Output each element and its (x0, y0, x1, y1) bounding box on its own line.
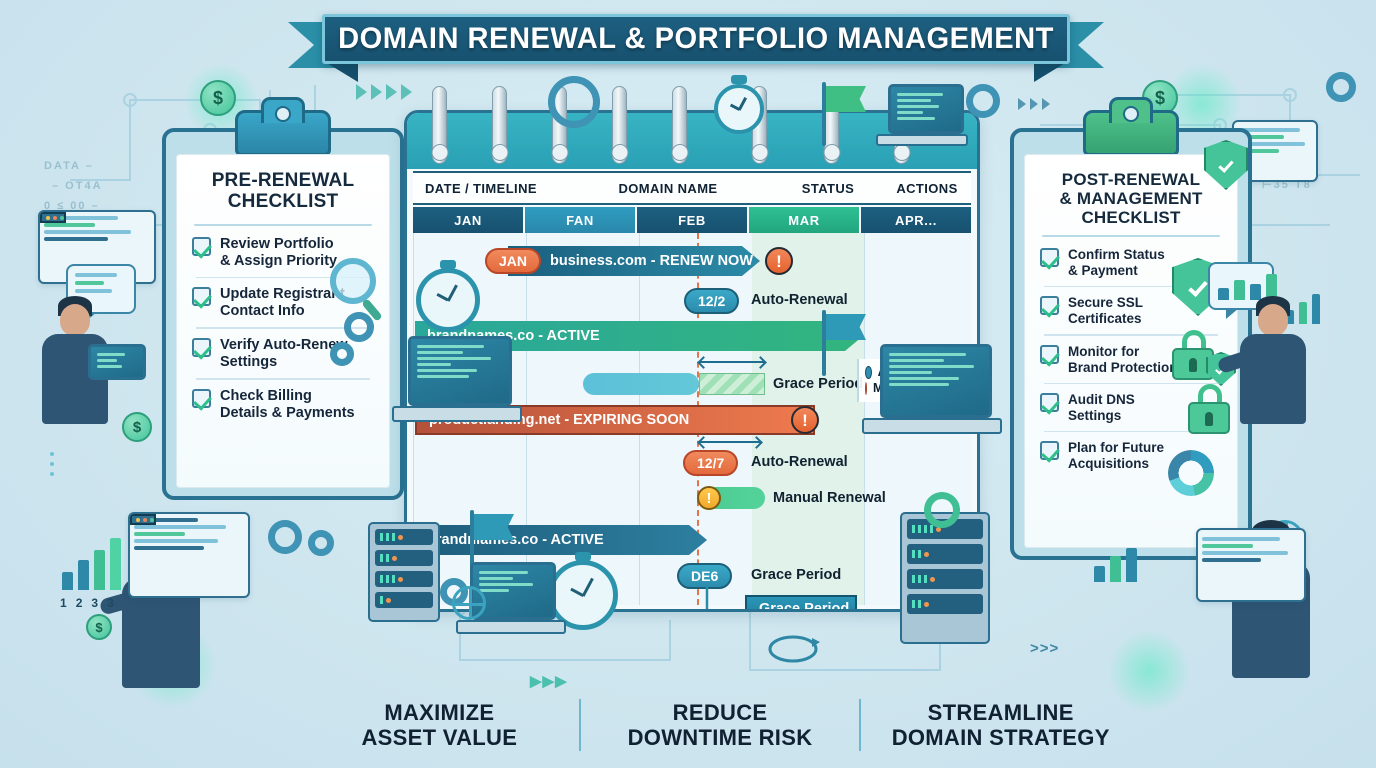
speech-lines-left (68, 266, 134, 300)
chart-label-4: 3 (107, 596, 114, 610)
left-panel-title-line-2: CHECKLIST (190, 191, 376, 212)
tagline-line-1: STREAMLINE (861, 700, 1140, 725)
server-unit (375, 592, 433, 608)
chevron-glyph-right: >>> (1030, 640, 1059, 657)
checklist-label-update-registrant: Update Registrant Contact Info (220, 286, 345, 320)
column-header-date: DATE / TIMELINE (413, 181, 563, 196)
chart-label-2: 2 (76, 596, 83, 610)
stopwatch-icon-left (416, 268, 480, 332)
timeline-badge-12-2[interactable]: 12/2 (684, 288, 739, 314)
laptop-screen (880, 344, 992, 418)
shield-check-mark (1218, 157, 1233, 173)
checkbox-secure-ssl[interactable] (1040, 296, 1059, 315)
month-cell-fan[interactable]: FAN (525, 207, 635, 233)
checklist-label-verify-auto-renew: Verify Auto-Renew Settings (220, 337, 348, 371)
clipboard-clip-hole-right (1123, 106, 1139, 122)
laptop-icon-right-large (862, 344, 1002, 454)
laptop-icon-top (876, 84, 968, 156)
server-icon-right (900, 512, 990, 644)
timeline-bar-business-com[interactable]: business.com - RENEW NOW (508, 246, 760, 276)
gear-icon-server-right (924, 492, 960, 528)
clipboard-clip-hole-left (275, 106, 291, 122)
server-unit (907, 569, 983, 589)
gear-icon-left-a (344, 312, 374, 342)
chevron-glyph-left: ▶▶▶ (530, 672, 568, 690)
dashboard-screen-right (1196, 528, 1306, 602)
laptop-base (862, 418, 1002, 434)
grace-bar-solid (583, 373, 699, 395)
left-panel-title: PRE-RENEWAL CHECKLIST (190, 170, 376, 213)
month-cell-jan[interactable]: JAN (413, 207, 523, 233)
spiral-ring (432, 86, 447, 164)
flag-cloth (826, 314, 866, 340)
timeline-status-auto-renewal-2: Auto-Renewal (751, 454, 848, 470)
checklist-item-check-billing[interactable]: Check Billing Details & Payments (190, 387, 376, 422)
right-panel-title-line-2: & MANAGEMENT (1038, 189, 1224, 208)
server-icon-left (368, 522, 440, 622)
alarm-clock-knob (575, 552, 591, 561)
alert-icon-manual-renewal[interactable]: ! (697, 486, 721, 510)
server-unit (907, 594, 983, 614)
gear-icon-top-right (966, 84, 1000, 118)
spiral-ring (672, 86, 687, 164)
stopwatch-icon-top (714, 84, 764, 134)
right-panel-divider (1042, 235, 1220, 237)
month-cell-mar[interactable]: MAR (749, 207, 859, 233)
flag-pole (822, 310, 826, 376)
person-right-upper (1226, 296, 1322, 446)
checkbox-review-portfolio[interactable] (192, 237, 211, 256)
bar-chart-icon-lower-right (1094, 548, 1137, 582)
title-ribbon: DOMAIN RENEWAL & PORTFOLIO MANAGEMENT (288, 8, 1104, 70)
auto-renewal-measure (699, 441, 761, 443)
checkbox-confirm-status[interactable] (1040, 248, 1059, 267)
person-body (1240, 334, 1306, 424)
globe-icon-bottom-left (452, 586, 486, 620)
laptop-screen-lines (897, 93, 955, 120)
timeline-badge-12-7[interactable]: 12/7 (683, 450, 738, 476)
coin-icon-mid-left: $ (122, 412, 152, 442)
tagline-line-2: ASSET VALUE (300, 725, 579, 750)
checkbox-check-billing[interactable] (192, 389, 211, 408)
laptop-screen-lines (97, 353, 137, 368)
mini-window-titlebar (40, 212, 66, 223)
timeline-bar-brandniames-co-active[interactable]: brandniames.co - ACTIVE (415, 525, 707, 555)
laptop-base (876, 134, 968, 146)
checklist-label-check-billing: Check Billing Details & Payments (220, 388, 355, 422)
checklist-label-confirm-status: Confirm Status & Payment (1068, 247, 1165, 279)
server-unit (375, 571, 433, 587)
stopwatch-knob (440, 260, 456, 269)
checkbox-audit-dns[interactable] (1040, 393, 1059, 412)
bar-chart-axis-labels: 1 2 3 3 (60, 596, 114, 610)
timeline-status-manual-renewal: Manual Renewal (773, 490, 886, 506)
grace-period-connector (703, 583, 763, 612)
tagline-line-1: REDUCE (581, 700, 860, 725)
right-panel-title-line-1: POST-RENEWAL (1038, 170, 1224, 189)
page-title: DOMAIN RENEWAL & PORTFOLIO MANAGEMENT (338, 22, 1054, 56)
laptop-base (456, 620, 566, 634)
checkbox-monitor-brand[interactable] (1040, 345, 1059, 364)
clipboard-clip-left (235, 110, 331, 156)
chart-label-3: 3 (91, 596, 98, 610)
chart-label-1: 1 (60, 596, 67, 610)
right-panel-title: POST-RENEWAL & MANAGEMENT CHECKLIST (1038, 170, 1224, 227)
flag-icon-top (822, 82, 870, 146)
month-cell-apr[interactable]: APR... (861, 207, 971, 233)
alert-icon-business-com[interactable]: ! (765, 247, 793, 275)
flag-pole (822, 82, 826, 146)
dot-grid-left (50, 452, 54, 476)
timeline-badge-jan[interactable]: JAN (485, 248, 541, 274)
server-unit (375, 529, 433, 545)
magnifier-lens (330, 258, 376, 304)
flag-cloth (826, 86, 866, 112)
tagline-line-2: DOMAIN STRATEGY (861, 725, 1140, 750)
laptop-screen-lines (417, 345, 503, 378)
laptop-icon-left-large (392, 336, 522, 440)
refresh-cycle-icon (762, 628, 824, 670)
checklist-label-secure-ssl: Secure SSL Certificates (1068, 295, 1143, 327)
lock-body (1188, 402, 1230, 434)
spiral-ring (492, 86, 507, 164)
flag-cloth (474, 514, 514, 540)
dashboard-titlebar (130, 514, 156, 525)
grace-bar-hatched (699, 373, 765, 395)
left-panel-divider (194, 224, 372, 226)
donut-chart-icon (1168, 450, 1214, 496)
laptop-held-left (88, 344, 148, 388)
alert-icon-productlanding-net[interactable]: ! (791, 406, 819, 434)
timeline-month-row: JAN FAN FEB MAR APR... (413, 207, 971, 233)
month-cell-feb[interactable]: FEB (637, 207, 747, 233)
laptop-base (392, 406, 522, 422)
person-head (60, 304, 90, 336)
chevron-triangles-right (1018, 98, 1050, 110)
spiral-ring (612, 86, 627, 164)
gear-icon-far-right (1326, 72, 1356, 102)
dashboard-screen-left (128, 512, 250, 598)
infographic-canvas: DATA – – OT4A 0 ≤ 00 – ⊢35 T8 >>> ▶▶▶ $ … (0, 0, 1376, 768)
title-plate: DOMAIN RENEWAL & PORTFOLIO MANAGEMENT (322, 14, 1070, 64)
gear-icon-top-center (548, 76, 600, 128)
timeline-status-auto-renewal-1: Auto-Renewal (751, 292, 848, 308)
checkbox-update-registrant[interactable] (192, 287, 211, 306)
right-panel-title-line-3: CHECKLIST (1038, 208, 1224, 227)
decor-text-left-2: – OT4A (52, 180, 103, 192)
laptop-screen (408, 336, 512, 406)
checklist-label-audit-dns: Audit DNS Settings (1068, 392, 1135, 424)
laptop-screen (888, 84, 964, 134)
column-header-status: STATUS (773, 181, 883, 196)
tagline-streamline-domain-strategy: STREAMLINE DOMAIN STRATEGY (861, 700, 1140, 750)
column-header-domain: DOMAIN NAME (563, 181, 773, 196)
checklist-label-plan-future: Plan for Future Acquisitions (1068, 440, 1164, 472)
laptop-screen-lines (479, 571, 547, 592)
grace-period-measure (699, 361, 765, 363)
coin-icon-lower-left: $ (86, 614, 112, 640)
tagline-line-1: MAXIMIZE (300, 700, 579, 725)
laptop-screen (88, 344, 146, 380)
checkbox-verify-auto-renew[interactable] (192, 338, 211, 357)
stopwatch-knob (731, 75, 747, 84)
gear-icon-left-b (330, 342, 354, 366)
tagline-line-2: DOWNTIME RISK (581, 725, 860, 750)
server-unit (907, 544, 983, 564)
clipboard-clip-right (1083, 110, 1179, 156)
timeline-status-grace-period-1: Grace Period (773, 376, 863, 392)
gear-icon-left-d (308, 530, 334, 556)
timeline-status-grace-period-2: Grace Period (751, 567, 841, 583)
left-panel-title-line-1: PRE-RENEWAL (190, 170, 376, 191)
flag-icon-timeline-right (822, 310, 870, 376)
shield-check-mark (1188, 277, 1207, 297)
gear-icon-left-c (268, 520, 302, 554)
tagline-row: MAXIMIZE ASSET VALUE REDUCE DOWNTIME RIS… (300, 690, 1140, 760)
timeline-column-headers: DATE / TIMELINE DOMAIN NAME STATUS ACTIO… (413, 171, 971, 205)
person-head (1258, 304, 1288, 336)
dashboard-right-body (1198, 530, 1304, 566)
laptop-screen-lines (889, 353, 983, 386)
checklist-label-review-portfolio: Review Portfolio & Assign Priority (220, 236, 337, 270)
bar-chart-icon-lower-left (62, 538, 121, 590)
checklist-label-monitor-brand: Monitor for Brand Protection (1068, 344, 1178, 376)
tagline-reduce-downtime-risk: REDUCE DOWNTIME RISK (581, 700, 860, 750)
checkbox-plan-future[interactable] (1040, 441, 1059, 460)
coin-icon-top-left: $ (200, 80, 236, 116)
tagline-maximize-asset-value: MAXIMIZE ASSET VALUE (300, 700, 579, 750)
server-unit (375, 550, 433, 566)
checklist-separator (196, 378, 370, 380)
decor-text-left-1: DATA – (44, 160, 94, 172)
column-header-actions: ACTIONS (883, 181, 971, 196)
